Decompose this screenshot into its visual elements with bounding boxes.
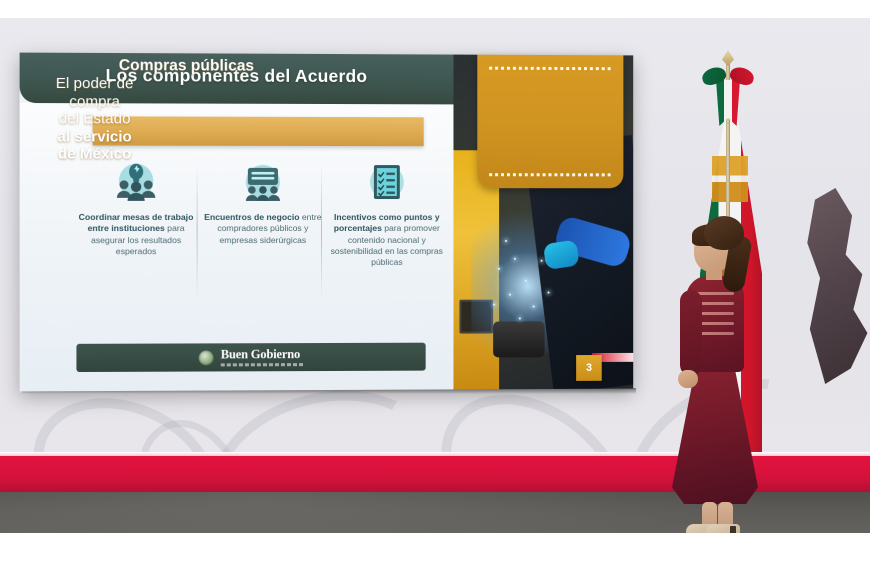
- spark: [498, 268, 500, 270]
- section-banner-label: Compras públicas: [20, 57, 352, 76]
- callout-line-5: de México: [26, 146, 164, 164]
- callout-text: El poder de compra del Estado al servici…: [26, 75, 164, 164]
- spark: [509, 294, 511, 296]
- component-text: Incentivos como puntos y porcentajes par…: [328, 212, 446, 269]
- brand-subtitle-microtext: [221, 363, 305, 366]
- dotted-rule: [489, 173, 611, 176]
- component-text: Encuentros de negocio entre compradores …: [204, 212, 322, 246]
- brand-block: Buen Gobierno: [221, 348, 305, 366]
- wall-sculpture-graphic: [806, 188, 870, 384]
- brand-label: Buen Gobierno: [221, 348, 300, 361]
- component-text-bold: Encuentros de negocio: [204, 212, 299, 222]
- work-piece: [493, 321, 544, 357]
- spark: [519, 317, 521, 319]
- spark: [505, 240, 507, 242]
- spark: [493, 304, 495, 306]
- dotted-rule: [489, 67, 611, 71]
- spark: [533, 306, 535, 308]
- callout-line-3: del Estado: [26, 110, 164, 128]
- component-column: Encuentros de negocio entre compradores …: [204, 158, 322, 246]
- spark: [525, 280, 527, 282]
- hair-top: [704, 216, 744, 250]
- checklist-clipboard-icon: [328, 158, 446, 206]
- ribbon-loop-left: [700, 65, 728, 88]
- arm: [680, 290, 702, 376]
- meeting-presentation-icon: [204, 158, 322, 206]
- spark: [541, 260, 543, 262]
- callout-line-2: compra: [26, 92, 164, 110]
- slide-page-number: 3: [576, 355, 602, 381]
- flag-gold-band: [712, 156, 748, 202]
- people-lightbulb-icon: [76, 158, 195, 206]
- conference-room: Los componentes del Acuerdo Compras públ…: [0, 18, 870, 533]
- ribbon-loop-right: [728, 65, 756, 88]
- component-column: Incentivos como puntos y porcentajes par…: [328, 158, 446, 269]
- spark: [514, 258, 516, 260]
- speaker: [664, 214, 768, 533]
- shoe-heel: [730, 526, 736, 533]
- component-column: Coordinar mesas de trabajo entre institu…: [76, 158, 195, 258]
- callout-line-4: al servicio: [26, 128, 164, 146]
- slide-footer-bar: Buen Gobierno: [76, 343, 425, 372]
- callout-panel: [477, 55, 623, 189]
- mexico-eagle-seal-icon: [199, 350, 214, 365]
- hands: [678, 370, 698, 388]
- column-divider: [197, 164, 198, 299]
- video-frame: Los componentes del Acuerdo Compras públ…: [0, 0, 870, 580]
- flag-finial: [722, 50, 734, 66]
- spark: [548, 292, 550, 294]
- component-text: Coordinar mesas de trabajo entre institu…: [76, 212, 195, 258]
- callout-line-1: El poder de: [26, 75, 164, 93]
- projection-screen: Los componentes del Acuerdo Compras públ…: [20, 53, 634, 392]
- flag-ribbon-bow: [702, 68, 754, 92]
